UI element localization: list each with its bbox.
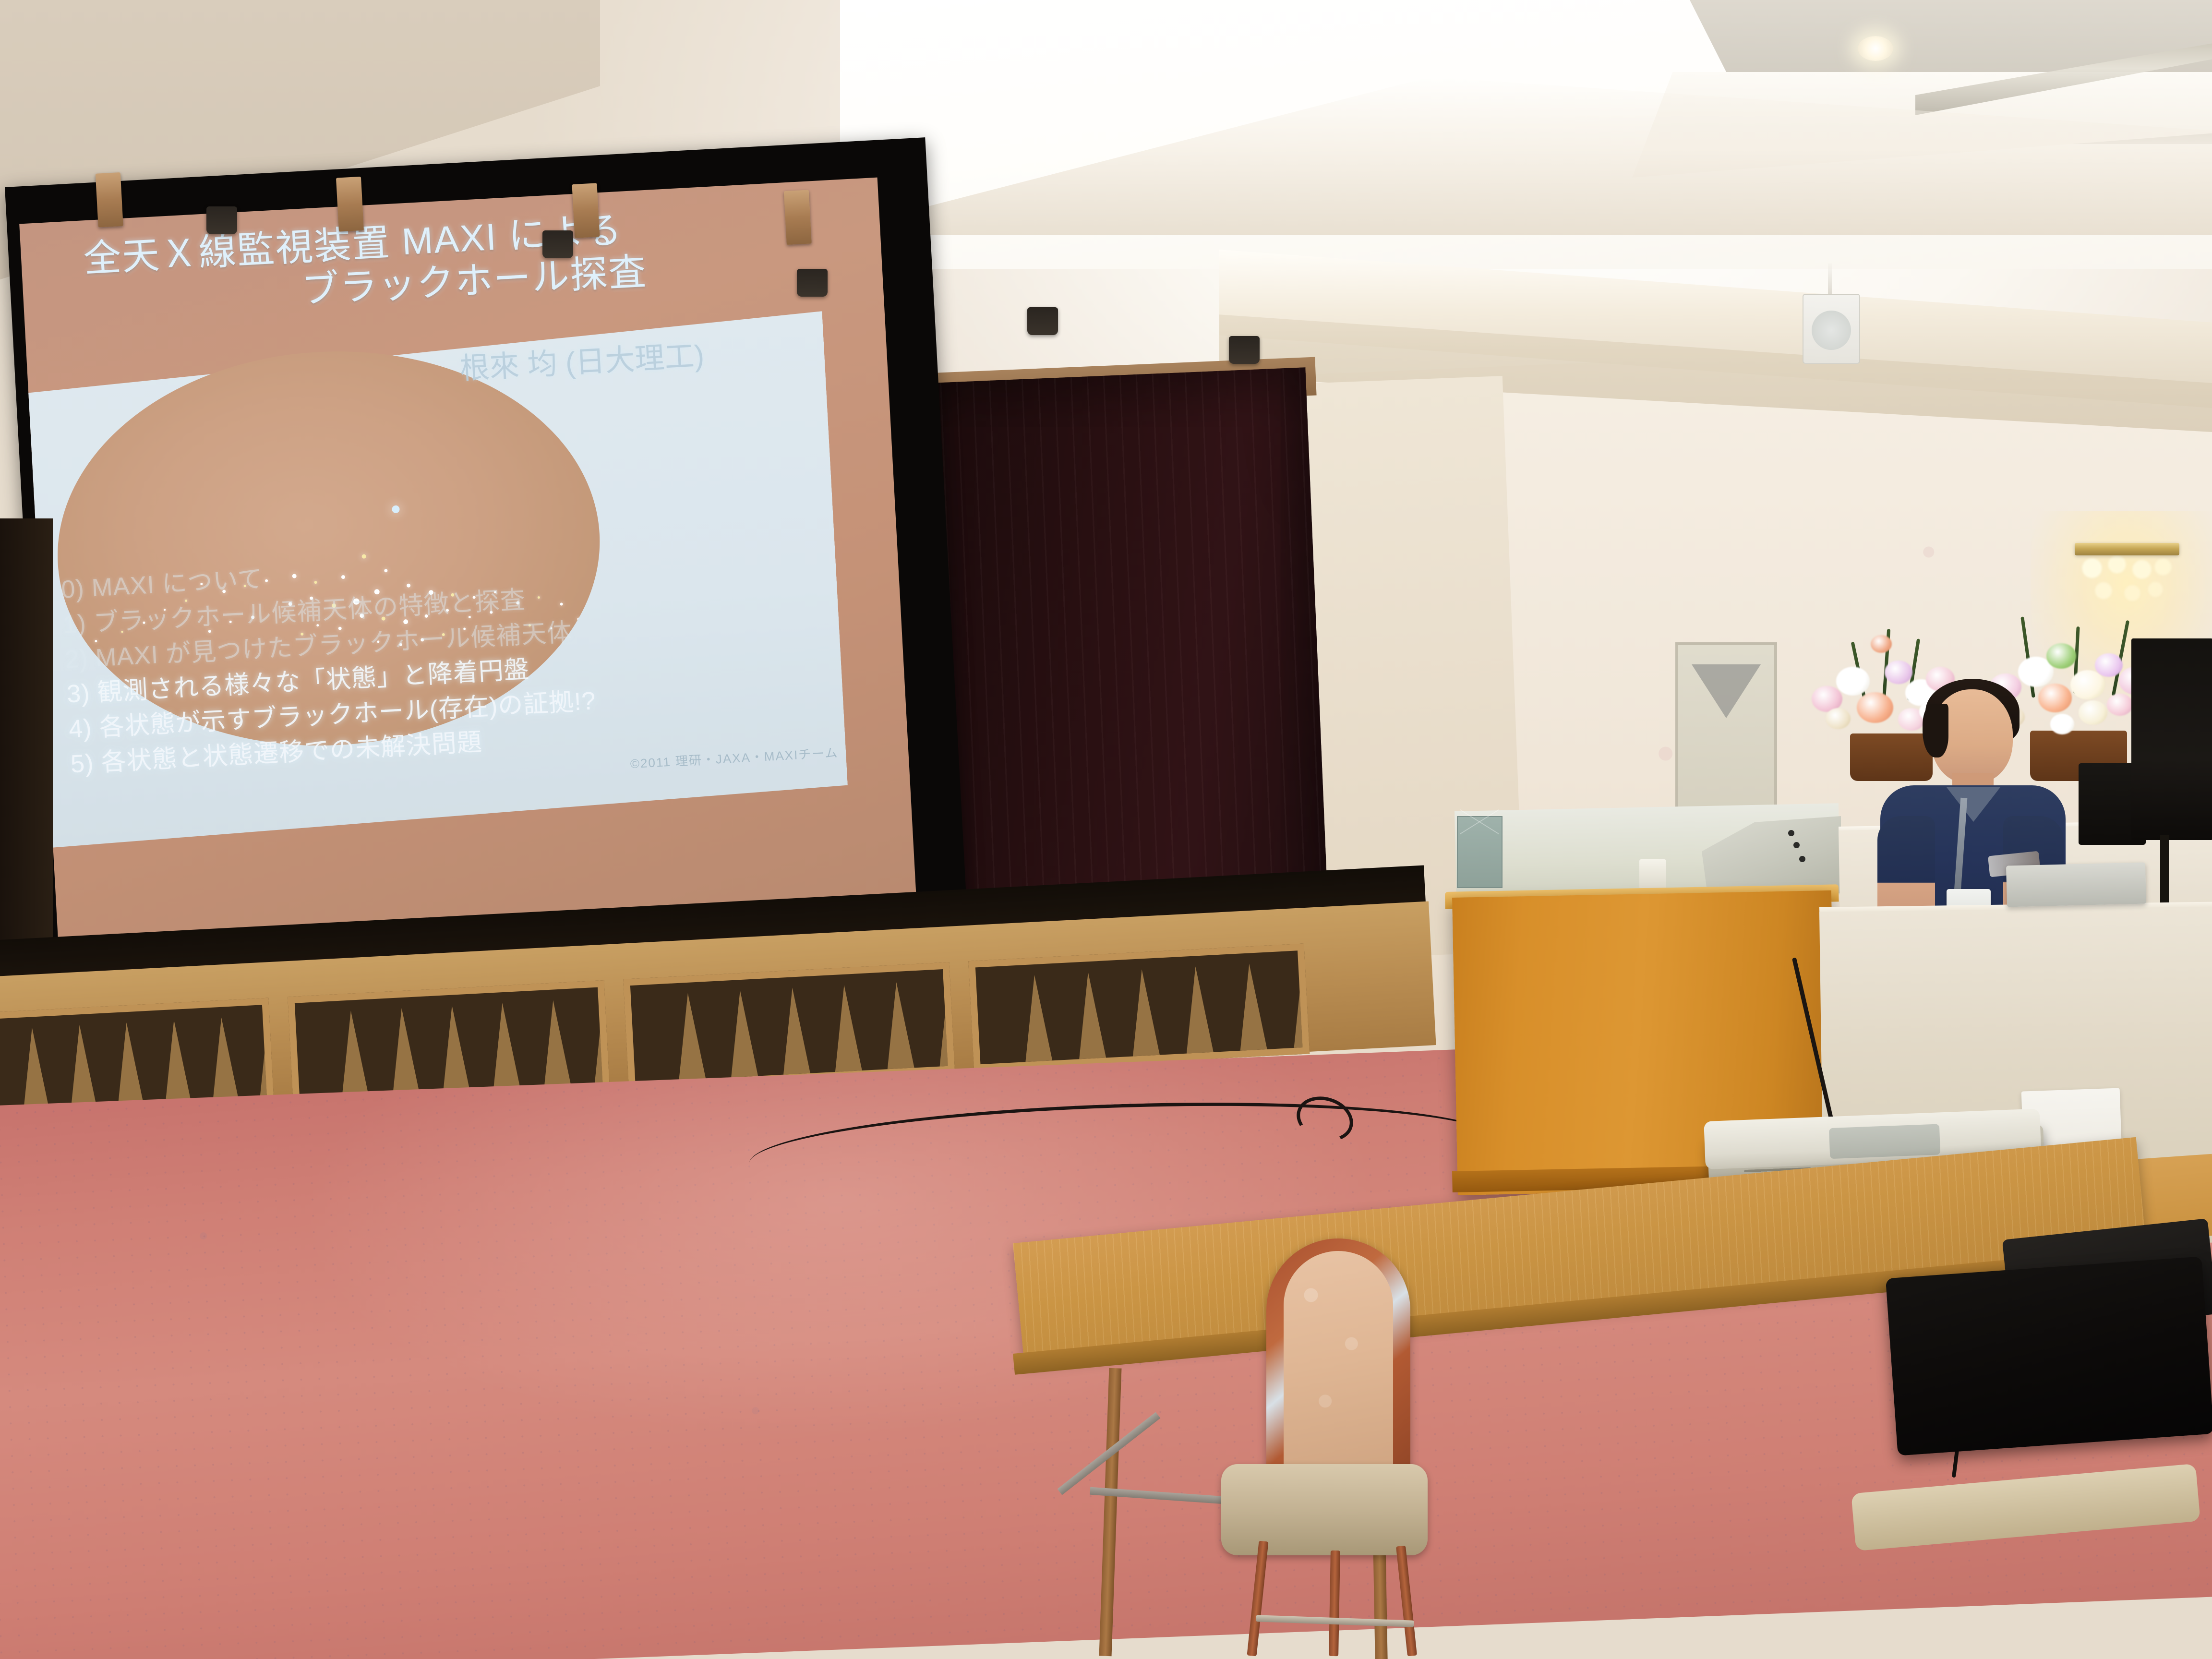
screen-clip	[96, 172, 123, 228]
vent-triangle-icon	[1236, 963, 1267, 1051]
presenter-hair-side	[1923, 704, 1948, 757]
vent-triangle-icon	[727, 990, 758, 1078]
flower-bloom	[1836, 667, 1870, 696]
laptop-on-desk[interactable]	[2006, 862, 2146, 907]
flower-bloom	[2079, 700, 2107, 725]
vent-triangle-icon	[19, 1027, 50, 1115]
screen-clip	[336, 177, 364, 232]
flower-bloom	[2107, 694, 2133, 716]
chair-leg	[1247, 1541, 1269, 1657]
vent-triangle-icon	[66, 1024, 97, 1112]
vent-triangle-icon	[255, 1014, 274, 1102]
chair-seat	[1221, 1464, 1428, 1555]
ceiling-speaker-stem	[1828, 263, 1832, 297]
stage-spotlight-icon	[1027, 307, 1058, 335]
flower-bloom	[2095, 653, 2123, 677]
screw-icon	[1788, 830, 1794, 836]
flower-bloom	[1826, 708, 1851, 729]
projector-lid-inset	[1829, 1124, 1940, 1159]
chair-leg	[1329, 1551, 1340, 1656]
screen-clip	[784, 190, 812, 245]
black-equipment-bag	[1886, 1256, 2212, 1455]
speaker-cone	[1812, 311, 1851, 350]
stage-spotlight-icon	[797, 269, 828, 297]
sconce-crystals	[2079, 554, 2175, 617]
floor-speaker	[2131, 638, 2212, 840]
vent-triangle-icon	[1075, 972, 1106, 1059]
banquet-chair[interactable]	[1210, 1238, 1459, 1656]
cup-on-counter	[1639, 859, 1666, 889]
vent-triangle-icon	[208, 1017, 239, 1105]
vent-triangle-icon	[439, 1005, 470, 1093]
vent-triangle-icon	[883, 982, 914, 1070]
flower-bloom	[2070, 670, 2105, 699]
vent-triangle-icon	[1289, 960, 1310, 1048]
chair-back-pad	[1284, 1251, 1393, 1472]
chair-back-frame	[1266, 1238, 1410, 1488]
vent-triangle-icon	[779, 987, 810, 1075]
vent-triangle-icon	[674, 992, 706, 1080]
triangle-marker-icon	[1692, 664, 1761, 718]
vent-triangle-icon	[489, 1002, 520, 1090]
vent-triangle-icon	[540, 999, 571, 1087]
conference-room-scene: 全天Ｘ線監視装置 MAXI による ブラックホール探査 根來 均 (日大理工) …	[0, 0, 2212, 1659]
stage-spotlight-icon	[206, 206, 237, 234]
vent-triangle-icon	[337, 1010, 369, 1098]
vent-triangle-icon	[1182, 966, 1214, 1054]
vent-triangle-icon	[831, 984, 862, 1072]
wall-access-panel[interactable]	[1675, 642, 1777, 815]
stage-vent-panel	[968, 944, 1310, 1071]
stage-spotlight-icon	[1229, 336, 1260, 364]
vent-triangle-icon	[388, 1008, 420, 1095]
vent-triangle-icon	[935, 979, 955, 1067]
vent-triangle-icon	[590, 997, 610, 1085]
vent-triangle-icon	[1129, 969, 1160, 1057]
ceiling-speaker-icon	[1803, 294, 1860, 364]
screen-surface: 全天Ｘ線監視装置 MAXI による ブラックホール探査 根來 均 (日大理工) …	[19, 178, 916, 948]
second-chair-seat	[1851, 1464, 2200, 1551]
recessed-downlight-icon	[1858, 36, 1893, 61]
screw-icon	[1799, 856, 1805, 862]
slide-bullet-list: 0) MAXI について1) ブラックホール候補天体の特徴と探査2) MAXI …	[60, 529, 887, 782]
stage-spotlight-icon	[542, 230, 573, 258]
vent-triangle-icon	[160, 1020, 192, 1107]
chair-leg	[1396, 1546, 1417, 1657]
vent-triangle-icon	[113, 1022, 144, 1110]
flower-bloom	[2046, 643, 2076, 669]
screw-icon	[1793, 842, 1800, 848]
screen-clip	[572, 183, 600, 238]
vent-triangle-icon	[1021, 974, 1052, 1062]
sconce-mount-bar	[2075, 543, 2179, 555]
flower-bloom	[1871, 635, 1892, 653]
x-ray-source-point	[392, 505, 400, 514]
slide-title: 全天Ｘ線監視装置 MAXI による ブラックホール探査	[73, 195, 873, 324]
av-equipment-box	[1457, 816, 1503, 888]
